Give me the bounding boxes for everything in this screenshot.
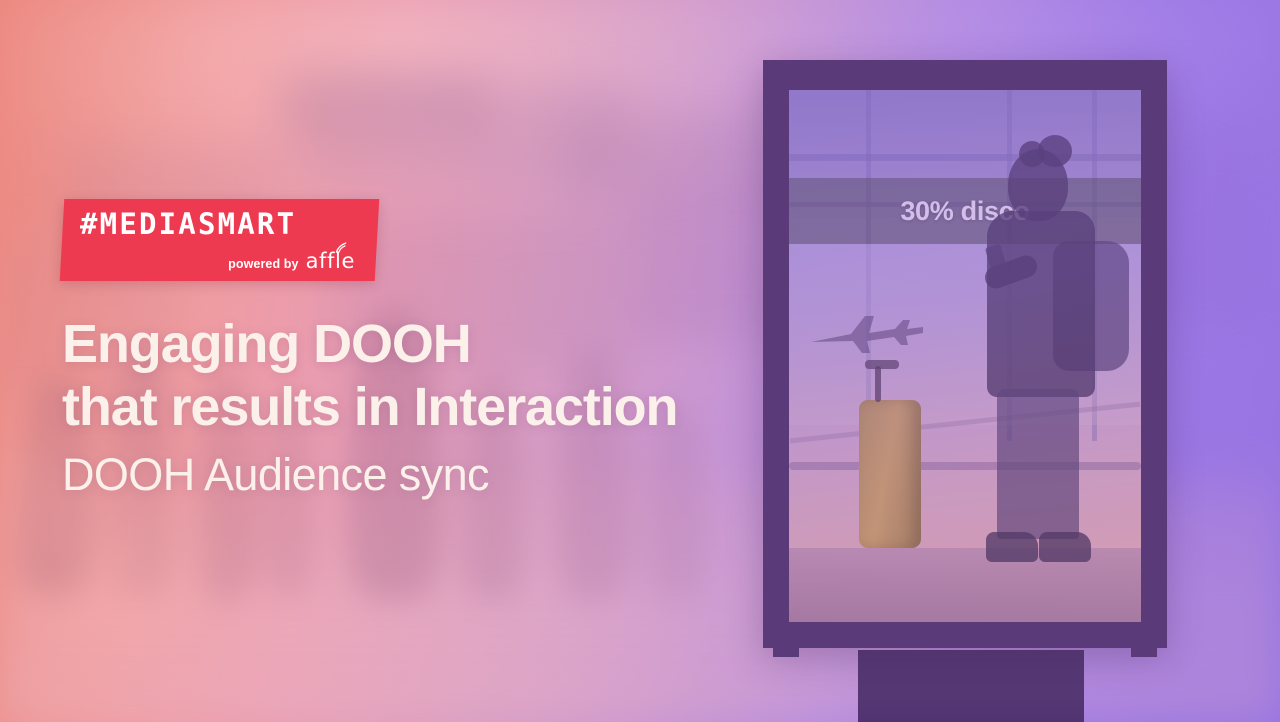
- powered-by-row: powered by affle: [80, 251, 361, 272]
- headline-subtitle: DOOH Audience sync: [62, 450, 962, 500]
- headline-block: Engaging DOOH that results in Interactio…: [62, 313, 962, 500]
- mediasmart-wordmark: #MEDIASMART: [80, 210, 361, 239]
- presentation-slide: 30% disco #MEDIASMART powered by affle: [0, 0, 1280, 722]
- billboard-foot-left: [773, 647, 799, 657]
- wifi-signal-icon: [335, 242, 348, 253]
- logo-inner: #MEDIASMART powered by affle: [62, 199, 377, 281]
- affle-brand: affle: [306, 251, 355, 272]
- powered-by-label: powered by: [228, 258, 298, 273]
- headline-line-2: that results in Interaction: [62, 376, 962, 439]
- headline-line-1: Engaging DOOH: [62, 313, 962, 376]
- traveler-with-phone: [962, 149, 1120, 559]
- billboard-pedestal: [858, 650, 1084, 722]
- mediasmart-logo-banner[interactable]: #MEDIASMART powered by affle: [60, 199, 380, 281]
- billboard-foot-right: [1131, 647, 1157, 657]
